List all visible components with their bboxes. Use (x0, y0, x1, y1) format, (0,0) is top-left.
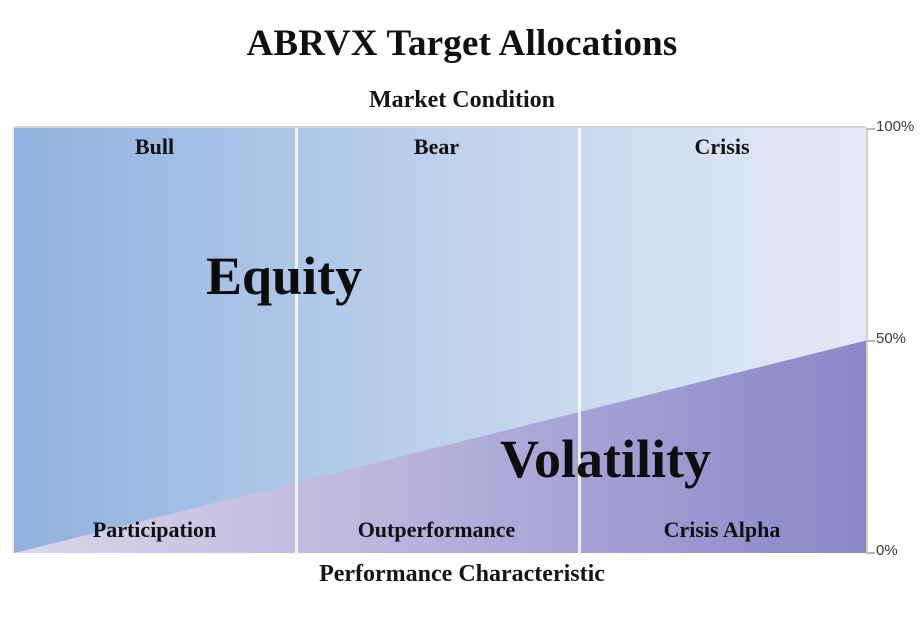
ytick-mark-100 (866, 128, 875, 130)
ytick-label-0: 0% (876, 543, 898, 559)
category-label-crisis: Crisis (578, 132, 866, 162)
category-divider-bull-bear (295, 128, 298, 553)
ytick-label-50: 50% (876, 331, 906, 347)
series-label-equity: Equity (206, 245, 362, 307)
plot-area (14, 128, 866, 553)
ytick-mark-0 (866, 552, 875, 554)
ytick-mark-50 (866, 340, 875, 342)
chart-figure: ABRVX Target Allocations Market Conditio… (0, 0, 924, 620)
xaxis-title: Performance Characteristic (0, 560, 924, 588)
ytick-label-100: 100% (876, 119, 914, 135)
category-label-bull: Bull (14, 132, 295, 162)
category-sublabel-participation: Participation (14, 515, 295, 545)
chart-subtitle: Market Condition (0, 86, 924, 114)
category-label-bear: Bear (295, 132, 578, 162)
category-sublabel-outperformance: Outperformance (295, 515, 578, 545)
series-label-volatility: Volatility (500, 428, 711, 490)
category-sublabel-crisis-alpha: Crisis Alpha (578, 515, 866, 545)
chart-title: ABRVX Target Allocations (0, 22, 924, 66)
